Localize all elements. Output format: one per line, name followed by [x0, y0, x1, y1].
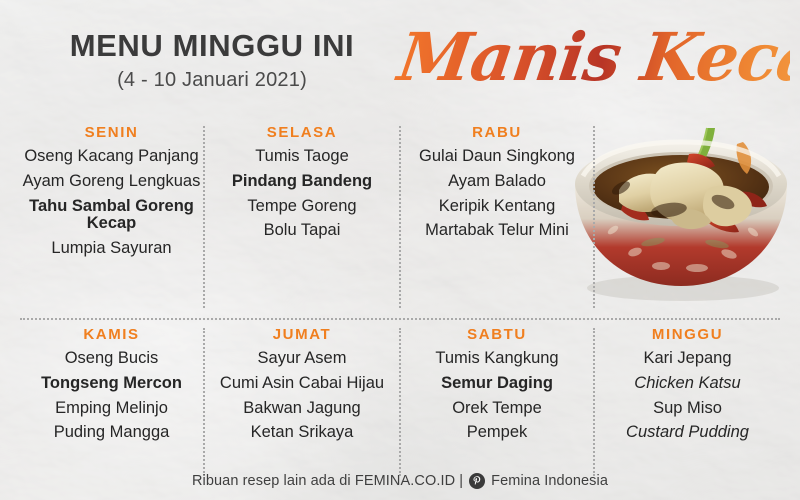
dish-item: Chicken Katsu: [595, 375, 780, 393]
dish-item: Emping Melinjo: [20, 400, 203, 418]
day-column-kamis: KAMIS Oseng Bucis Tongseng Mercon Emping…: [20, 326, 203, 442]
poster-header: MENU MINGGU INI (4 - 10 Januari 2021): [32, 30, 392, 92]
dish-item: Bakwan Jagung: [205, 400, 399, 418]
grid-divider-horizontal: [20, 318, 780, 320]
grid-divider-vertical: [593, 126, 595, 308]
day-heading: SELASA: [205, 124, 399, 141]
dish-item: Pempek: [401, 424, 593, 442]
day-heading: RABU: [401, 124, 593, 141]
dish-item: Custard Pudding: [595, 424, 780, 442]
day-heading: SABTU: [401, 326, 593, 343]
poster-canvas: MENU MINGGU INI (4 - 10 Januari 2021) Ma…: [0, 0, 800, 500]
dish-item: Bolu Tapai: [205, 222, 399, 240]
dish-item: Keripik Kentang: [401, 198, 593, 216]
dish-item-highlight: Tahu Sambal Goreng Kecap: [20, 198, 203, 234]
dish-item: Ayam Balado: [401, 173, 593, 191]
menu-grid: SENIN Oseng Kacang Panjang Ayam Goreng L…: [20, 124, 780, 474]
dish-item: Kari Jepang: [595, 350, 780, 368]
dish-item: Oseng Kacang Panjang: [20, 148, 203, 166]
footer-text-before: Ribuan resep lain ada di FEMINA.CO.ID |: [192, 473, 463, 489]
day-heading: KAMIS: [20, 326, 203, 343]
footer: Ribuan resep lain ada di FEMINA.CO.ID | …: [0, 473, 800, 489]
dish-item: Martabak Telur Mini: [401, 222, 593, 240]
page-title: MENU MINGGU INI: [32, 30, 392, 63]
day-heading: JUMAT: [205, 326, 399, 343]
brand-name-text: Manis Kecap: [392, 18, 790, 96]
day-column-sabtu: SABTU Tumis Kangkung Semur Daging Orek T…: [401, 326, 593, 442]
dish-item-highlight: Semur Daging: [401, 375, 593, 393]
dish-item: Sayur Asem: [205, 350, 399, 368]
day-heading: SENIN: [20, 124, 203, 141]
date-range: (4 - 10 Januari 2021): [32, 69, 392, 92]
dish-item: Tumis Kangkung: [401, 350, 593, 368]
pinterest-icon: [469, 473, 485, 489]
dish-item: Orek Tempe: [401, 400, 593, 418]
day-column-rabu: RABU Gulai Daun Singkong Ayam Balado Ker…: [401, 124, 593, 240]
day-heading: MINGGU: [595, 326, 780, 343]
dish-item: Tempe Goreng: [205, 198, 399, 216]
day-column-minggu: MINGGU Kari Jepang Chicken Katsu Sup Mis…: [595, 326, 780, 442]
dish-item: Gulai Daun Singkong: [401, 148, 593, 166]
day-column-selasa: SELASA Tumis Taoge Pindang Bandeng Tempe…: [205, 124, 399, 240]
dish-item: Lumpia Sayuran: [20, 240, 203, 258]
day-column-jumat: JUMAT Sayur Asem Cumi Asin Cabai Hijau B…: [205, 326, 399, 442]
footer-text-after: Femina Indonesia: [491, 473, 608, 489]
day-column-senin: SENIN Oseng Kacang Panjang Ayam Goreng L…: [20, 124, 203, 258]
dish-item: Puding Mangga: [20, 424, 203, 442]
dish-item: Ketan Srikaya: [205, 424, 399, 442]
dish-item: Oseng Bucis: [20, 350, 203, 368]
dish-item: Tumis Taoge: [205, 148, 399, 166]
dish-item: Sup Miso: [595, 400, 780, 418]
dish-item: Cumi Asin Cabai Hijau: [205, 375, 399, 393]
dish-item-highlight: Tongseng Mercon: [20, 375, 203, 393]
dish-item: Ayam Goreng Lengkuas: [20, 173, 203, 191]
dish-item-highlight: Pindang Bandeng: [205, 173, 399, 191]
